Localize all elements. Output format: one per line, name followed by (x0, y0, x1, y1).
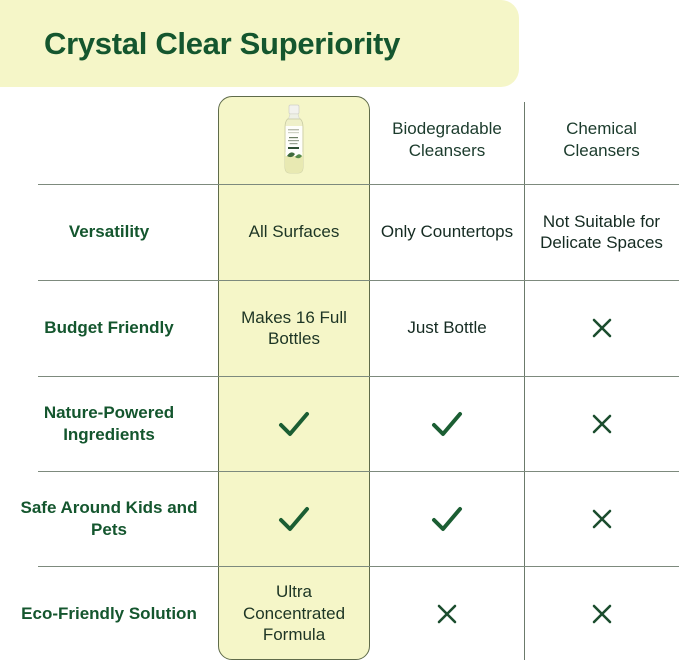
table-row: Safe Around Kids and Pets (0, 471, 679, 566)
header-corner-cell (0, 96, 218, 184)
row-label-cell: Safe Around Kids and Pets (0, 471, 218, 566)
cross-icon (432, 599, 462, 629)
header-cell-featured (218, 96, 370, 184)
row-label: Nature-Powered Ingredients (8, 402, 210, 445)
row-label-cell: Nature-Powered Ingredients (0, 376, 218, 471)
cell-chemical (524, 280, 679, 376)
cell-value-featured: Makes 16 Full Bottles (226, 307, 362, 350)
cell-value-featured: All Surfaces (249, 221, 340, 242)
row-label: Eco-Friendly Solution (21, 603, 197, 624)
cross-icon (587, 599, 617, 629)
cell-featured: Ultra Concentrated Formula (218, 566, 370, 661)
row-label-cell: Eco-Friendly Solution (0, 566, 218, 661)
cell-biodegradable: Only Countertops (370, 184, 524, 280)
cell-biodegradable (370, 471, 524, 566)
cell-value-biodegradable: Only Countertops (381, 221, 513, 242)
row-divider (38, 280, 679, 281)
header-label-chemical: Chemical Cleansers (532, 118, 671, 162)
cross-icon (587, 313, 617, 343)
row-label: Budget Friendly (44, 317, 173, 338)
check-icon (427, 406, 467, 442)
cross-icon (587, 409, 617, 439)
check-icon (274, 406, 314, 442)
cell-biodegradable (370, 566, 524, 661)
row-divider (38, 566, 679, 567)
row-label-cell: Versatility (0, 184, 218, 280)
cell-value-chemical: Not Suitable for Delicate Spaces (532, 211, 671, 254)
cell-featured (218, 471, 370, 566)
check-icon (274, 501, 314, 537)
row-label: Versatility (69, 221, 149, 242)
header-cell-chemical: Chemical Cleansers (524, 96, 679, 184)
cross-icon (587, 504, 617, 534)
row-divider (38, 376, 679, 377)
page-title: Crystal Clear Superiority (44, 26, 400, 62)
cell-chemical (524, 471, 679, 566)
title-banner: Crystal Clear Superiority (0, 0, 519, 87)
row-label-cell: Budget Friendly (0, 280, 218, 376)
cell-chemical: Not Suitable for Delicate Spaces (524, 184, 679, 280)
cell-value-featured: Ultra Concentrated Formula (226, 581, 362, 645)
row-divider (38, 184, 679, 185)
cell-chemical (524, 376, 679, 471)
header-cell-biodegradable: Biodegradable Cleansers (370, 96, 524, 184)
cell-featured: Makes 16 Full Bottles (218, 280, 370, 376)
table-header-row: Biodegradable Cleansers Chemical Cleanse… (0, 96, 679, 184)
table-row: Versatility All Surfaces Only Countertop… (0, 184, 679, 280)
check-icon (427, 501, 467, 537)
cell-featured: All Surfaces (218, 184, 370, 280)
table-row: Nature-Powered Ingredients (0, 376, 679, 471)
header-label-biodegradable: Biodegradable Cleansers (378, 118, 516, 162)
cell-biodegradable (370, 376, 524, 471)
cell-chemical (524, 566, 679, 661)
row-divider (38, 471, 679, 472)
cleaner-bottle-icon (277, 104, 311, 176)
table-grid: Biodegradable Cleansers Chemical Cleanse… (0, 96, 679, 666)
table-row: Budget Friendly Makes 16 Full Bottles Ju… (0, 280, 679, 376)
cell-biodegradable: Just Bottle (370, 280, 524, 376)
cell-value-biodegradable: Just Bottle (407, 317, 486, 338)
cell-featured (218, 376, 370, 471)
row-label: Safe Around Kids and Pets (8, 497, 210, 540)
comparison-table: Biodegradable Cleansers Chemical Cleanse… (0, 96, 679, 666)
table-row: Eco-Friendly Solution Ultra Concentrated… (0, 566, 679, 661)
